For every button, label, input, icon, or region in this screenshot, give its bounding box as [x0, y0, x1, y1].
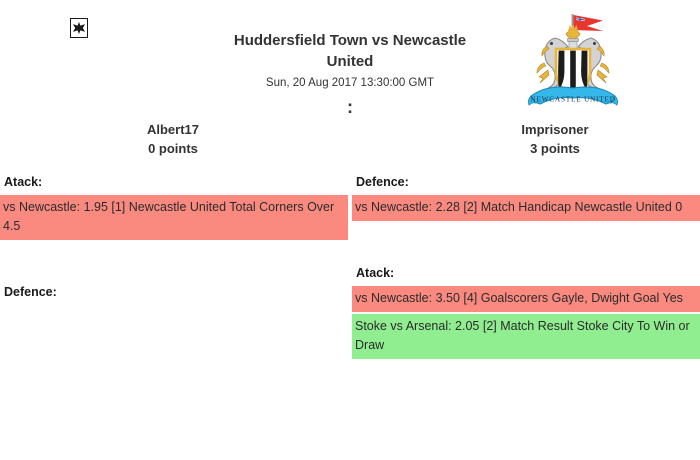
section-body-right-defence: vs Newcastle: 2.28 [2] Match Handicap Ne…: [352, 195, 700, 221]
bet-columns: Atack: vs Newcastle: 1.95 [1] Newcastle …: [0, 168, 700, 361]
player-left: Albert17 0 points: [28, 120, 318, 158]
player-right-points: 3 points: [420, 139, 690, 158]
player-left-points: 0 points: [28, 139, 318, 158]
player-right-name: Imprisoner: [420, 120, 690, 139]
match-title: Huddersfield Town vs Newcastle United: [210, 30, 490, 72]
section-body-left-attack: vs Newcastle: 1.95 [1] Newcastle United …: [0, 195, 348, 240]
section-title-left-attack: Atack:: [4, 174, 348, 190]
bet-item[interactable]: vs Newcastle: 2.28 [2] Match Handicap Ne…: [352, 195, 700, 221]
broken-image-glyph: [73, 22, 85, 34]
match-header: Huddersfield Town vs Newcastle United Su…: [0, 0, 700, 165]
player-right: Imprisoner 3 points: [420, 120, 690, 158]
score-separator: :: [210, 98, 490, 116]
bet-item[interactable]: vs Newcastle: 3.50 [4] Goalscorers Gayle…: [352, 286, 700, 312]
section-title-right-attack: Atack:: [356, 265, 700, 281]
crest-banner-text: NEWCASTLE UNITED: [530, 95, 615, 104]
newcastle-united-crest-icon: NEWCASTLE UNITED: [525, 8, 621, 108]
bet-column-right: Defence: vs Newcastle: 2.28 [2] Match Ha…: [350, 168, 700, 361]
section-title-right-defence: Defence:: [356, 174, 700, 190]
section-title-left-defence: Defence:: [4, 284, 348, 300]
bet-item[interactable]: Stoke vs Arsenal: 2.05 [2] Match Result …: [352, 314, 700, 359]
player-left-name: Albert17: [28, 120, 318, 139]
bet-item[interactable]: vs Newcastle: 1.95 [1] Newcastle United …: [0, 195, 348, 240]
broken-image-placeholder-icon: [70, 18, 88, 38]
section-body-right-attack: vs Newcastle: 3.50 [4] Goalscorers Gayle…: [352, 286, 700, 359]
match-title-block: Huddersfield Town vs Newcastle United Su…: [210, 30, 490, 91]
bet-column-left: Atack: vs Newcastle: 1.95 [1] Newcastle …: [0, 168, 350, 361]
match-date: Sun, 20 Aug 2017 13:30:00 GMT: [210, 75, 490, 91]
